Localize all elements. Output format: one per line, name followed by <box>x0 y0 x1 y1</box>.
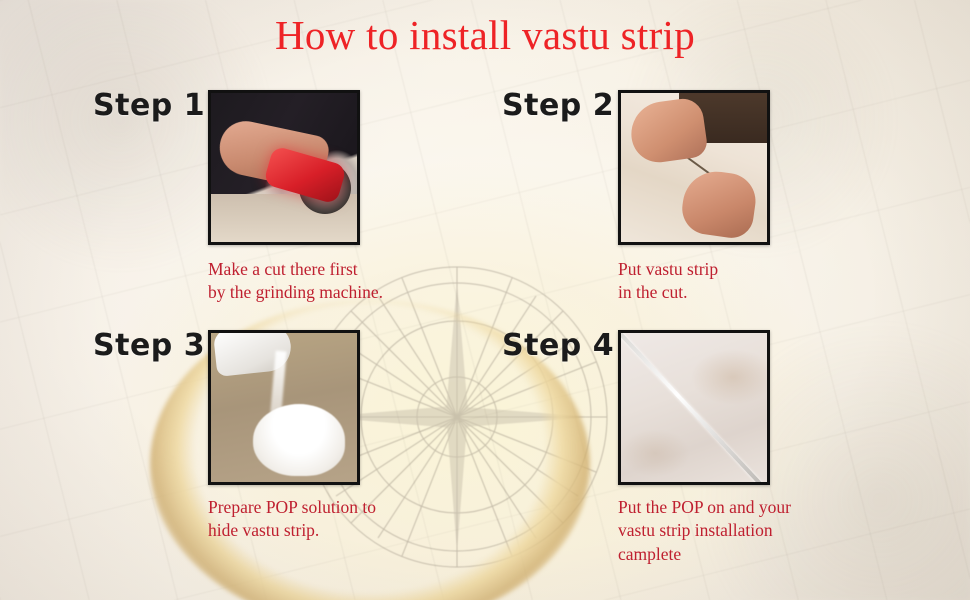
step-photo-1 <box>208 90 360 245</box>
step-label-2: Step 2 <box>502 88 614 123</box>
step-caption-4: Put the POP on and your vastu strip inst… <box>618 496 898 566</box>
step-photo-2 <box>618 90 770 245</box>
step-label-1: Step 1 <box>93 88 205 123</box>
step-label-4: Step 4 <box>502 328 614 363</box>
step-caption-2: Put vastu strip in the cut. <box>618 258 848 305</box>
step-caption-3: Prepare POP solution to hide vastu strip… <box>208 496 468 543</box>
step-label-3: Step 3 <box>93 328 205 363</box>
page-title: How to install vastu strip <box>0 14 970 57</box>
step-photo-3 <box>208 330 360 485</box>
step-photo-4 <box>618 330 770 485</box>
poster-canvas: How to install vastu strip Step 1 Make a… <box>0 0 970 600</box>
step-caption-1: Make a cut there first by the grinding m… <box>208 258 458 305</box>
